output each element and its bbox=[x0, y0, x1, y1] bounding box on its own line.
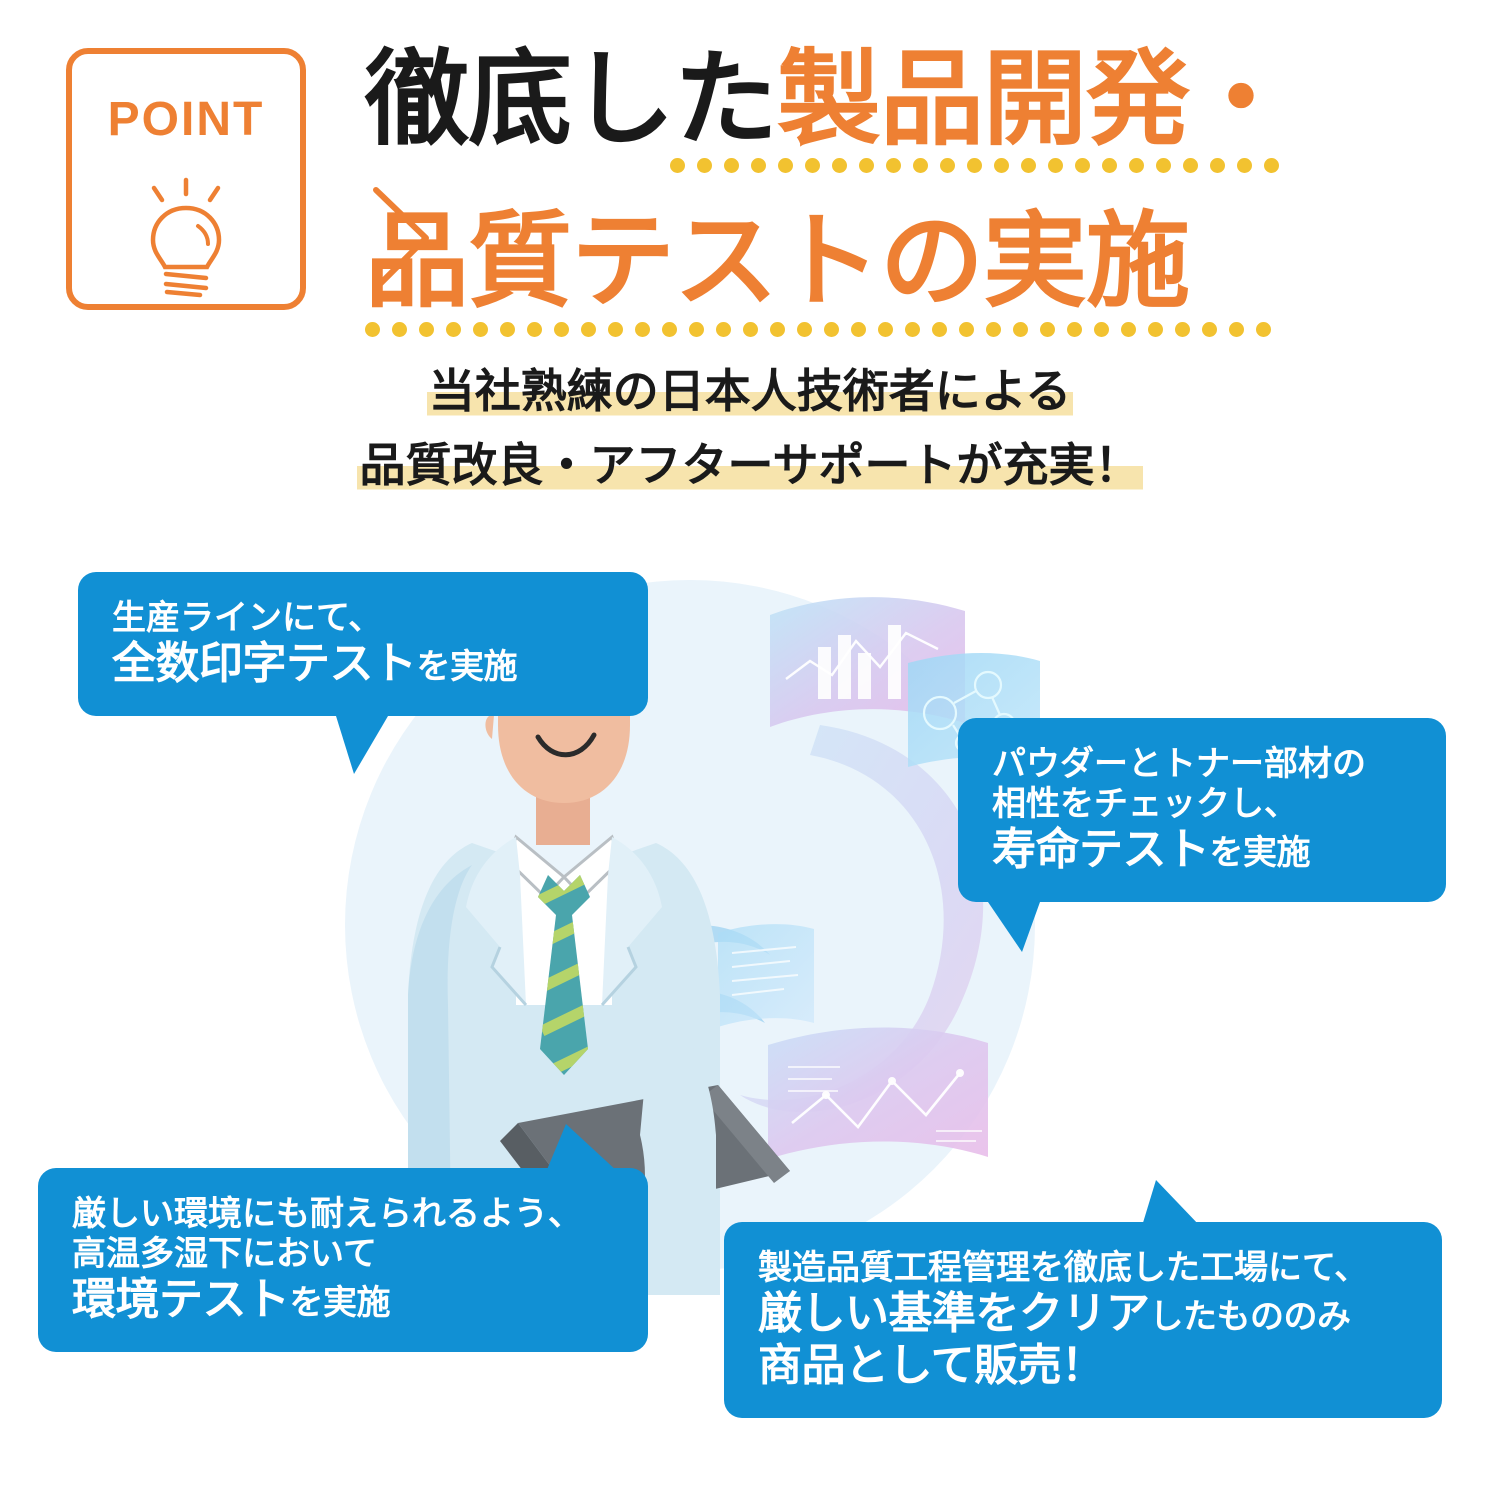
bubble3-emphasis: 環境テスト bbox=[72, 1275, 290, 1324]
bubble1-emphasis: 全数印字テスト bbox=[112, 639, 417, 688]
bubble2-line-3: 寿命テストを実施 bbox=[992, 824, 1416, 876]
page-title: 徹底した製品開発・ 品質テストの実施 bbox=[365, 48, 1325, 338]
subtitle-line-1: 当社熟練の日本人技術者による bbox=[0, 368, 1500, 414]
subtitle-text-1: 当社熟練の日本人技術者による bbox=[427, 365, 1074, 417]
bubble1-suffix: を実施 bbox=[417, 648, 518, 686]
bubble4-suffix: したもののみ bbox=[1150, 1298, 1351, 1336]
bubble-environment-test[interactable]: 厳しい環境にも耐えられるよう、 高温多湿下において 環境テストを実施 bbox=[38, 1168, 648, 1352]
bubble-life-test[interactable]: パウダーとトナー部材の 相性をチェックし、 寿命テストを実施 bbox=[958, 718, 1446, 902]
bubble4-line-3: 商品として販売！ bbox=[758, 1340, 1412, 1392]
bubble2-tail bbox=[988, 902, 1040, 952]
bubble4-line-2: 厳しい基準をクリアしたもののみ bbox=[758, 1288, 1412, 1340]
bubble1-line-1: 生産ラインにて、 bbox=[112, 598, 618, 638]
bubble4-line-1: 製造品質工程管理を徹底した工場にて、 bbox=[758, 1248, 1412, 1288]
bubble3-suffix: を実施 bbox=[290, 1284, 391, 1322]
title-line-1: 徹底した製品開発・ bbox=[365, 48, 1325, 152]
bubble3-line-1: 厳しい環境にも耐えられるよう、 bbox=[72, 1194, 618, 1234]
line-chart-screen bbox=[768, 1027, 988, 1159]
bubble2-line-1: パウダーとトナー部材の bbox=[992, 744, 1416, 784]
subtitle-line-2: 品質改良・アフターサポートが充実！ bbox=[0, 442, 1500, 488]
bubble-factory-quality[interactable]: 製造品質工程管理を徹底した工場にて、 厳しい基準をクリアしたもののみ 商品として… bbox=[724, 1222, 1442, 1418]
bubble4-tail bbox=[1142, 1180, 1200, 1226]
document-screen bbox=[718, 924, 814, 1027]
title-part-orange-2: 品質テストの実施 bbox=[365, 204, 1189, 320]
point-badge: POINT bbox=[66, 48, 306, 310]
bubble3-line-2: 高温多湿下において bbox=[72, 1234, 618, 1274]
bubble2-emphasis: 寿命テスト bbox=[992, 825, 1210, 874]
lightbulb-icon bbox=[126, 174, 246, 304]
subtitle-block: 当社熟練の日本人技術者による 品質改良・アフターサポートが充実！ bbox=[0, 368, 1500, 488]
title-part-black: 徹底した bbox=[365, 42, 777, 158]
bubble1-tail bbox=[336, 716, 388, 774]
title-dot-underline-1 bbox=[670, 158, 1325, 174]
title-line-2: 品質テストの実施 bbox=[365, 210, 1325, 314]
bubble1-line-2: 全数印字テストを実施 bbox=[112, 638, 618, 690]
bubble2-line-2: 相性をチェックし、 bbox=[992, 784, 1416, 824]
bubble2-suffix: を実施 bbox=[1210, 834, 1311, 872]
bubble3-tail bbox=[546, 1124, 618, 1172]
bubble4-emphasis: 厳しい基準をクリア bbox=[758, 1289, 1150, 1338]
title-part-orange: 製品開発・ bbox=[777, 42, 1292, 158]
poster-root: POINT 徹底した製品開発・ 品質テストの実施 bbox=[0, 0, 1500, 1500]
point-badge-label: POINT bbox=[72, 92, 300, 147]
bubble-print-test[interactable]: 生産ラインにて、 全数印字テストを実施 bbox=[78, 572, 648, 716]
bubble3-line-3: 環境テストを実施 bbox=[72, 1274, 618, 1326]
subtitle-text-2: 品質改良・アフターサポートが充実！ bbox=[357, 439, 1142, 491]
title-dot-underline-2 bbox=[365, 322, 1325, 338]
